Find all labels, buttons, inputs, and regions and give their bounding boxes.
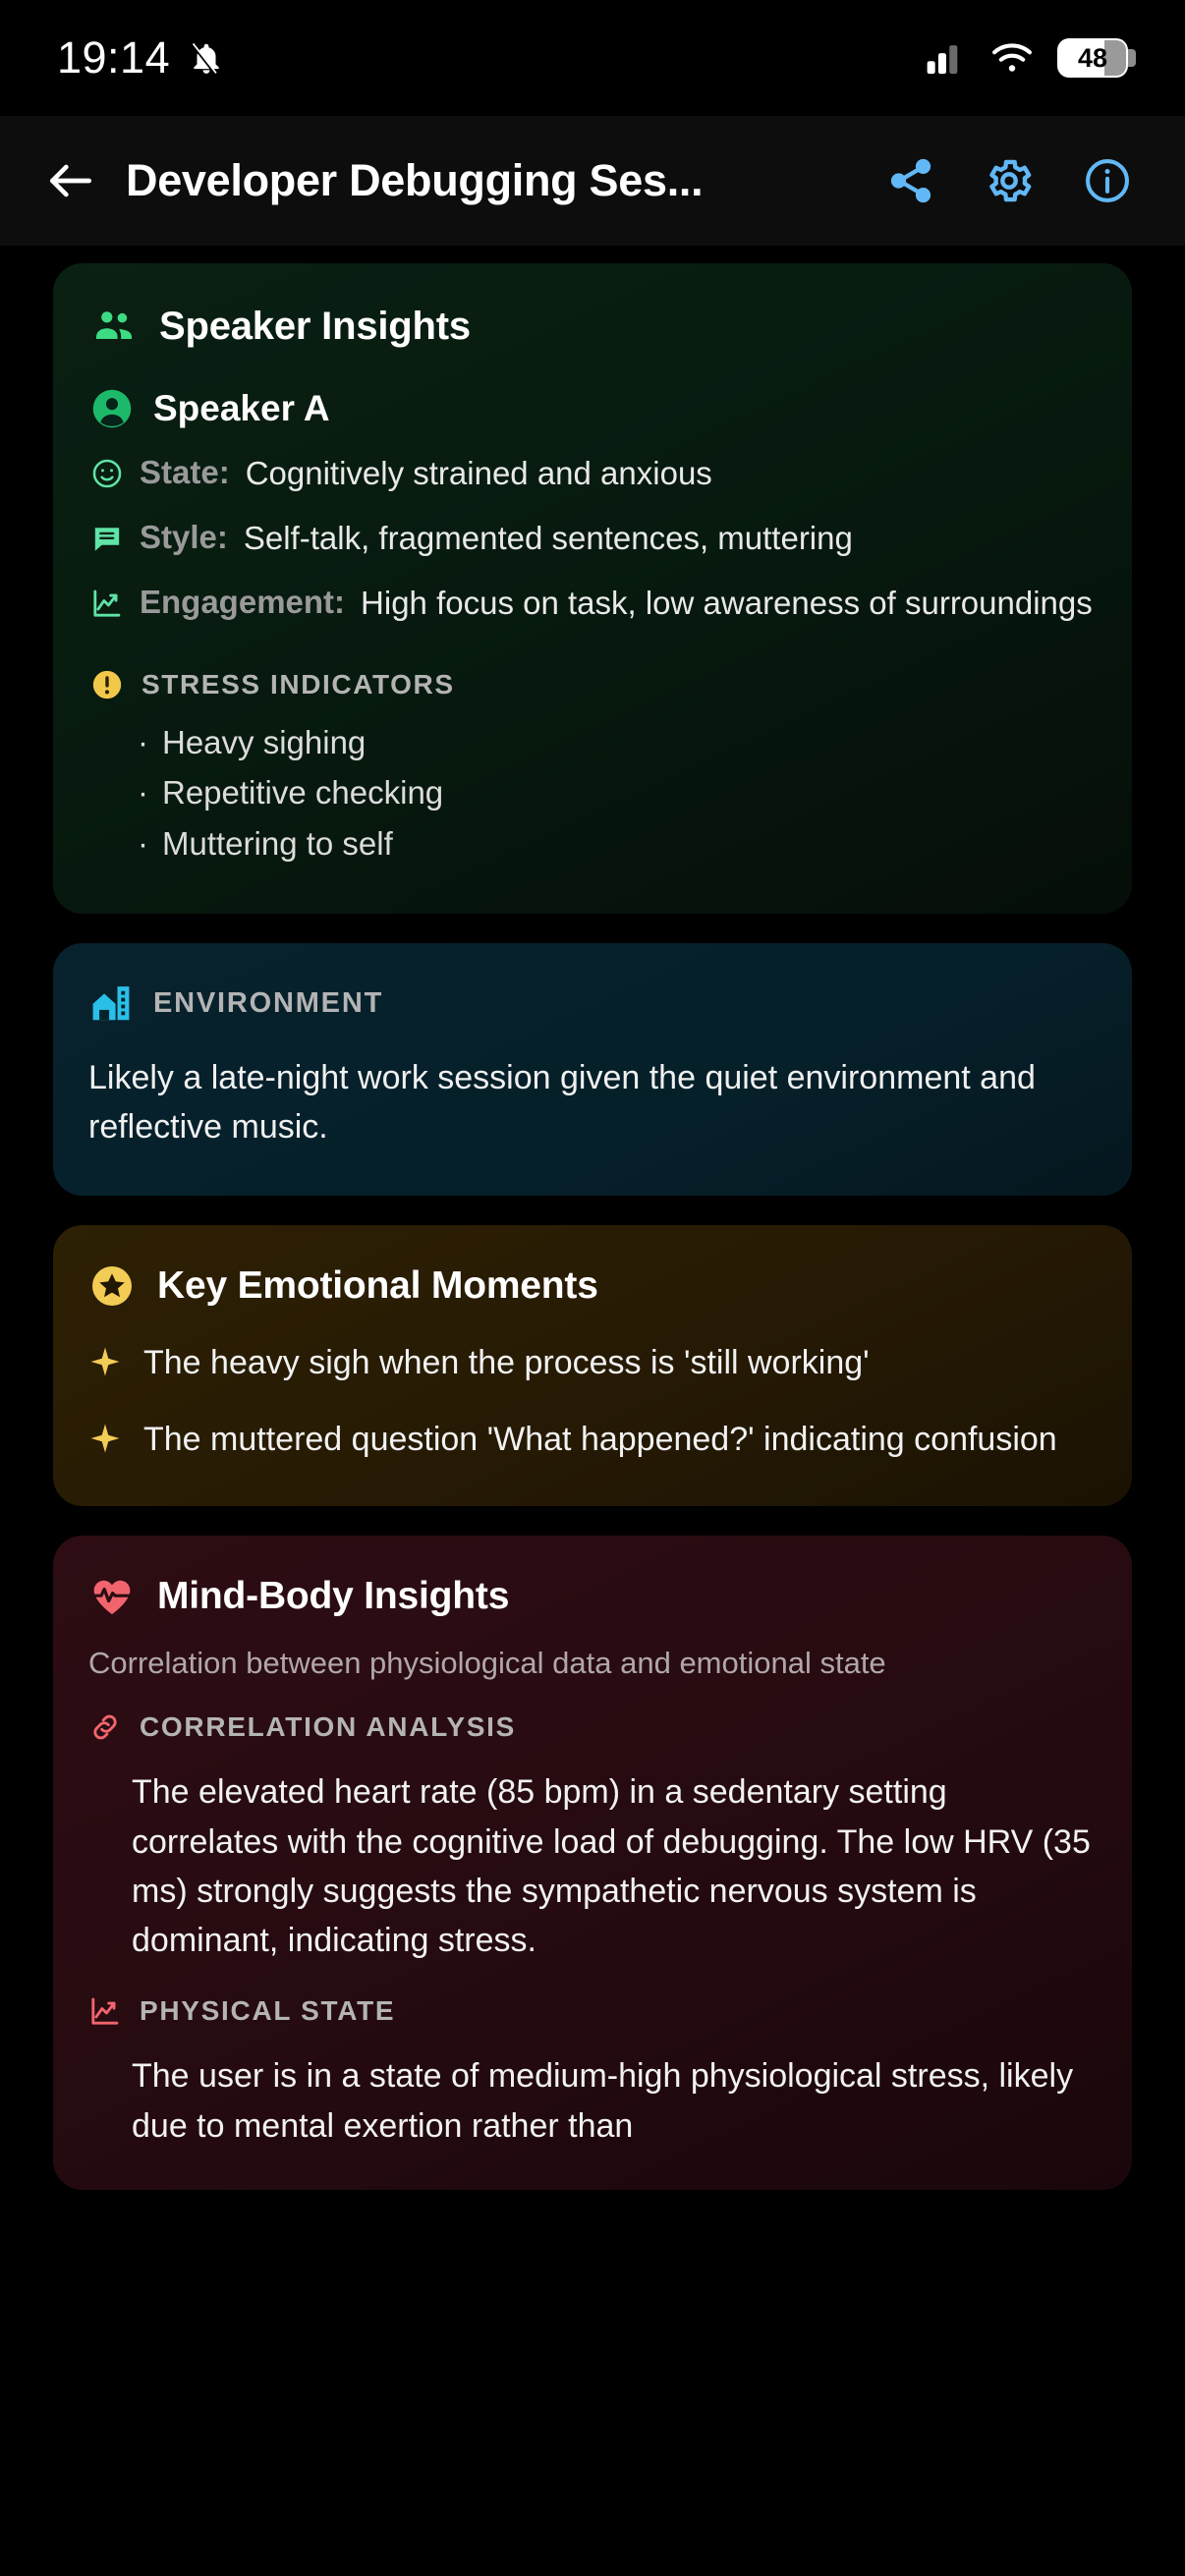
list-item: The muttered question 'What happened?' i…: [88, 1416, 1097, 1463]
correlation-analysis-title: CORRELATION ANALYSIS: [140, 1711, 516, 1743]
warning-circle-icon: [90, 668, 124, 701]
list-item: The heavy sigh when the process is 'stil…: [88, 1339, 1097, 1386]
mind-body-header: Mind-Body Insights: [88, 1573, 1097, 1620]
list-item: · Heavy sighing: [138, 717, 1095, 767]
speaker-attribute-state: State: Cognitively strained and anxious: [90, 452, 1095, 495]
key-moments-header: Key Emotional Moments: [88, 1262, 1097, 1310]
link-chain-icon: [88, 1710, 122, 1744]
speaker-row: Speaker A: [90, 387, 1095, 430]
environment-card: ENVIRONMENT Likely a late-night work ses…: [53, 943, 1132, 1196]
speaker-attribute-state-value: Cognitively strained and anxious: [246, 452, 1095, 495]
speaker-attribute-style-value: Self-talk, fragmented sentences, mutteri…: [244, 517, 1095, 560]
bullet-dot: ·: [138, 818, 148, 868]
share-icon[interactable]: [875, 144, 947, 217]
app-bar: Developer Debugging Ses...: [0, 116, 1185, 246]
cell-signal-icon: [926, 40, 967, 76]
chat-bubble-icon: [90, 517, 124, 555]
sparkle-icon: [88, 1339, 122, 1378]
trending-chart-icon: [88, 1994, 122, 2028]
people-group-icon: [90, 303, 138, 350]
speaker-attribute-engagement: Engagement: High focus on task, low awar…: [90, 582, 1095, 625]
stress-item-text: Muttering to self: [162, 818, 393, 868]
key-moments-card: Key Emotional Moments The heavy sigh whe…: [53, 1225, 1132, 1507]
building-home-icon: [88, 980, 134, 1026]
page-title: Developer Debugging Ses...: [126, 155, 865, 206]
physical-state-title: PHYSICAL STATE: [140, 1995, 395, 2027]
star-circle-icon: [88, 1262, 136, 1310]
correlation-analysis-header: CORRELATION ANALYSIS: [88, 1710, 1097, 1744]
speaker-name: Speaker A: [153, 388, 330, 429]
speaker-attribute-style-label: Style:: [140, 517, 228, 556]
mind-body-title: Mind-Body Insights: [157, 1575, 509, 1618]
speaker-attribute-style: Style: Self-talk, fragmented sentences, …: [90, 517, 1095, 560]
status-bar-right: 48: [926, 38, 1128, 78]
stress-item-text: Heavy sighing: [162, 717, 366, 767]
bullet-dot: ·: [138, 717, 148, 767]
speaker-insights-header: Speaker Insights: [90, 303, 1095, 350]
list-item: · Muttering to self: [138, 818, 1095, 868]
key-moment-text: The muttered question 'What happened?' i…: [143, 1416, 1057, 1463]
bullet-dot: ·: [138, 767, 148, 817]
battery-fill: [1104, 40, 1126, 76]
bell-muted-icon: [188, 39, 225, 77]
speaker-attribute-engagement-value: High focus on task, low awareness of sur…: [361, 582, 1095, 625]
mind-body-subtitle: Correlation between physiological data a…: [88, 1646, 1097, 1681]
environment-body: Likely a late-night work session given t…: [88, 1053, 1097, 1152]
sparkle-icon: [88, 1416, 122, 1455]
environment-title: ENVIRONMENT: [153, 987, 383, 1020]
trending-chart-icon: [90, 582, 124, 620]
settings-gear-icon[interactable]: [973, 144, 1045, 217]
content-scroll[interactable]: Speaker Insights Speaker A: [0, 246, 1185, 2190]
correlation-analysis-body: The elevated heart rate (85 bpm) in a se…: [88, 1767, 1097, 1965]
status-clock: 19:14: [57, 32, 170, 84]
key-moments-title: Key Emotional Moments: [157, 1264, 598, 1308]
physical-state-body: The user is in a state of medium-high ph…: [88, 2051, 1097, 2151]
physical-state-header: PHYSICAL STATE: [88, 1994, 1097, 2028]
battery-indicator: 48: [1057, 38, 1128, 78]
stress-item-text: Repetitive checking: [162, 767, 443, 817]
stress-indicators-header: STRESS INDICATORS: [90, 668, 1095, 701]
key-moment-text: The heavy sigh when the process is 'stil…: [143, 1339, 870, 1386]
smiley-face-icon: [90, 452, 124, 490]
app-bar-actions: [875, 144, 1144, 217]
speaker-insights-card: Speaker Insights Speaker A: [53, 263, 1132, 914]
battery-level: 48: [1078, 43, 1107, 74]
person-circle-icon: [90, 387, 134, 430]
speaker-attribute-engagement-label: Engagement:: [140, 582, 345, 621]
heart-pulse-icon: [88, 1573, 136, 1620]
environment-header: ENVIRONMENT: [88, 980, 1097, 1026]
status-bar-left: 19:14: [57, 32, 225, 84]
wifi-icon: [990, 40, 1034, 76]
speaker-attribute-state-label: State:: [140, 452, 230, 491]
back-arrow-icon[interactable]: [35, 145, 106, 216]
stress-indicators-title: STRESS INDICATORS: [141, 669, 455, 700]
speaker-insights-title: Speaker Insights: [159, 305, 471, 349]
status-bar: 19:14 48: [0, 0, 1185, 116]
list-item: · Repetitive checking: [138, 767, 1095, 817]
stress-indicators-list: · Heavy sighing · Repetitive checking · …: [90, 717, 1095, 868]
mind-body-card: Mind-Body Insights Correlation between p…: [53, 1536, 1132, 2190]
info-icon[interactable]: [1071, 144, 1144, 217]
